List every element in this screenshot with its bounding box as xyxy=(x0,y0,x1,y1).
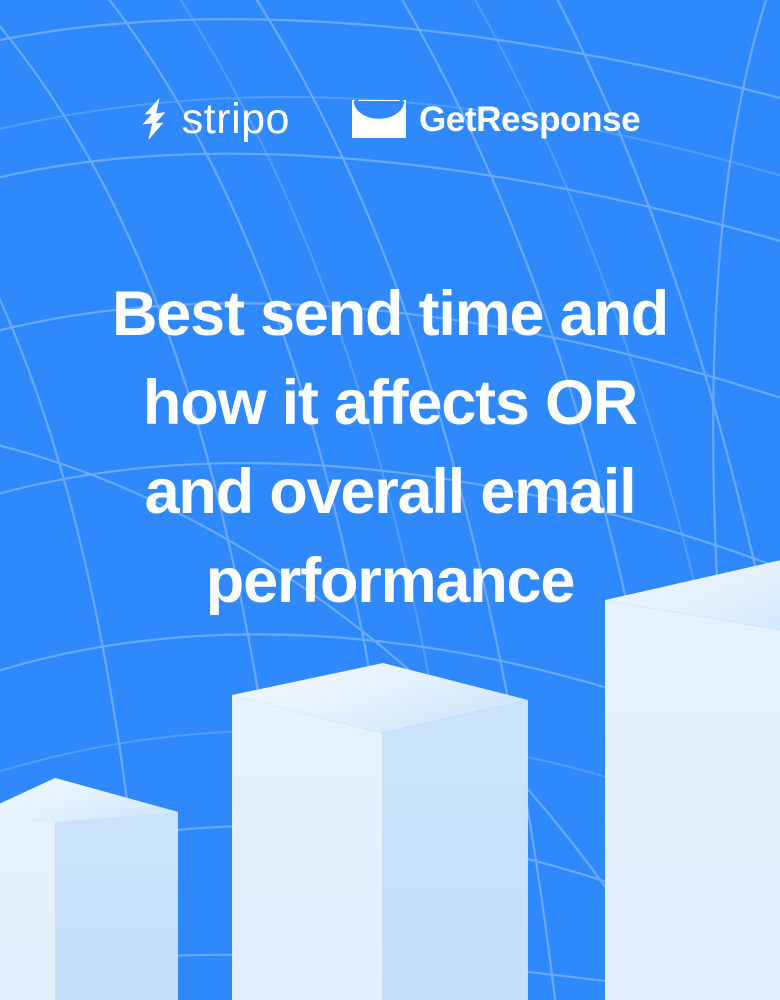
getresponse-logo[interactable]: GetResponse xyxy=(352,100,640,138)
title-line-3: and overall email xyxy=(40,448,740,537)
title-line-2: how it affects OR xyxy=(40,359,740,448)
title-line-1: Best send time and xyxy=(40,270,740,359)
stripo-logo[interactable]: stripo xyxy=(140,97,290,141)
getresponse-wordmark: GetResponse xyxy=(419,102,640,137)
page-title: Best send time and how it affects OR and… xyxy=(40,270,740,626)
cover-image: stripo GetResponse Best send time and ho… xyxy=(0,0,780,1000)
stripo-bolt-icon xyxy=(140,97,170,141)
stripo-wordmark: stripo xyxy=(182,98,290,141)
logo-row: stripo GetResponse xyxy=(0,97,780,141)
envelope-icon xyxy=(352,100,406,138)
content-layer: stripo GetResponse Best send time and ho… xyxy=(0,0,780,1000)
title-line-4: performance xyxy=(40,537,740,626)
